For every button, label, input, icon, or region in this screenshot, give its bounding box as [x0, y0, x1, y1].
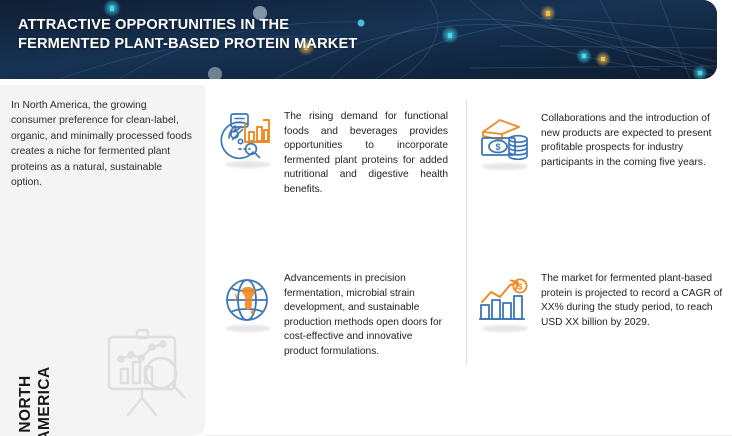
- icon-shadow: [225, 161, 271, 168]
- globe-icon: [219, 272, 275, 328]
- insight-card-text: Collaborations and the introduction of n…: [541, 112, 726, 170]
- presentation-chart-magnifier-icon: [95, 325, 195, 420]
- page-title: ATTRACTIVE OPPORTUNITIES IN THE FERMENTE…: [18, 16, 488, 54]
- svg-text:$: $: [518, 282, 523, 292]
- icon-shadow: [225, 325, 271, 332]
- icon-shadow: [482, 163, 528, 170]
- header-banner: ATTRACTIVE OPPORTUNITIES IN THE FERMENTE…: [0, 0, 717, 79]
- region-description: In North America, the growing consumer p…: [11, 98, 194, 190]
- insight-card-text: Advancements in precision fermentation, …: [284, 272, 449, 360]
- column-divider: [466, 100, 467, 365]
- infographic-page: ATTRACTIVE OPPORTUNITIES IN THE FERMENTE…: [0, 0, 732, 436]
- insight-card-collaborations: $ Collaborations and the introduction of…: [476, 110, 726, 170]
- insight-card-text: The rising demand for functional foods a…: [284, 110, 448, 198]
- insight-card-market-growth: $ The market for fermented plant-based p…: [476, 272, 726, 330]
- insight-card-text: The market for fermented plant-based pro…: [541, 272, 726, 330]
- svg-text:$: $: [495, 142, 500, 152]
- growth-bar-chart-dollar-icon: $: [476, 272, 532, 328]
- money-banknote-coins-icon: $: [476, 110, 532, 166]
- market-report-bar-chart-percent-icon: [219, 108, 275, 164]
- insight-card-functional-foods: The rising demand for functional foods a…: [219, 108, 449, 198]
- icon-shadow: [482, 325, 528, 332]
- region-name-label: NORTH AMERICA: [16, 339, 54, 436]
- insight-card-precision-fermentation: Advancements in precision fermentation, …: [219, 272, 449, 360]
